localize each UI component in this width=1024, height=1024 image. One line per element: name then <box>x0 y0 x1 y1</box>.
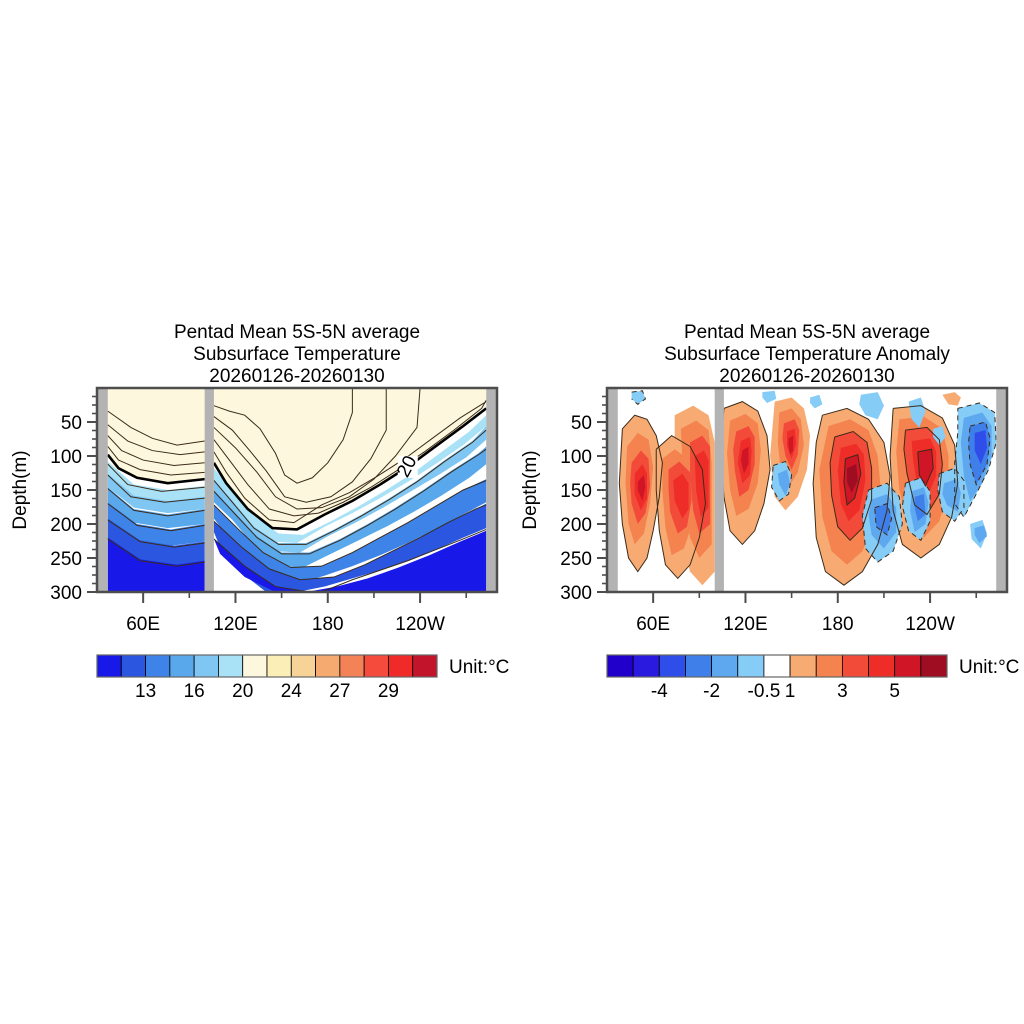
colorbar-tick-label: -2 <box>703 681 720 702</box>
title-line-3: 20260126-20260130 <box>97 366 497 388</box>
colorbar-swatch <box>685 655 711 677</box>
x-tick-label: 60E <box>636 614 670 635</box>
title-line-3: 20260126-20260130 <box>607 366 1007 388</box>
y-tick-label: 150 <box>50 481 82 502</box>
colorbar-unit-label: Unit:°C <box>449 657 509 678</box>
colorbar-swatch <box>291 655 315 677</box>
colorbar-swatch <box>842 655 868 677</box>
y-tick-label: 250 <box>50 549 82 570</box>
colorbar-tick-label: 27 <box>329 681 350 702</box>
colorbar-tick-label: -0.5 <box>748 681 781 702</box>
colorbar-swatch <box>413 655 437 677</box>
y-tick-label: 200 <box>50 515 82 536</box>
y-tick-label: 150 <box>560 481 592 502</box>
land-mask-band <box>486 388 497 592</box>
x-tick-label: 120W <box>905 614 955 635</box>
y-axis-label: Depth(m) <box>520 450 541 529</box>
colorbar-swatch <box>146 655 170 677</box>
colorbar-swatch <box>267 655 291 677</box>
x-tick-label: 180 <box>822 614 854 635</box>
y-tick-label: 200 <box>560 515 592 536</box>
colorbar-swatch <box>218 655 242 677</box>
colorbar-swatch <box>121 655 145 677</box>
x-tick-label: 180 <box>312 614 344 635</box>
x-tick-label: 120W <box>395 614 445 635</box>
colorbar-swatch <box>712 655 738 677</box>
land-mask-band <box>205 388 214 592</box>
colorbar-tick-label: 1 <box>785 681 796 702</box>
panel-title-anomaly: Pentad Mean 5S-5N average Subsurface Tem… <box>607 322 1007 388</box>
land-mask-band <box>996 388 1007 592</box>
colorbar-swatch <box>607 655 633 677</box>
land-mask-band <box>607 388 618 592</box>
x-tick-label: 120E <box>723 614 767 635</box>
x-tick-label: 60E <box>126 614 160 635</box>
colorbar-tick-label: 24 <box>281 681 303 702</box>
colorbar-tick-label: 3 <box>837 681 848 702</box>
y-tick-label: 300 <box>50 583 82 604</box>
title-line-1: Pentad Mean 5S-5N average <box>97 322 497 344</box>
colorbar-tick-label: 16 <box>184 681 205 702</box>
y-tick-label: 50 <box>571 413 592 434</box>
land-mask-band <box>97 388 108 592</box>
colorbar-unit-label: Unit:°C <box>959 657 1019 678</box>
colorbar-tick-label: 20 <box>232 681 253 702</box>
contour-band <box>108 388 205 482</box>
colorbar-swatch <box>340 655 364 677</box>
figure-root: Pentad Mean 5S-5N average Subsurface Tem… <box>0 0 1024 1024</box>
y-tick-label: 300 <box>560 583 592 604</box>
panel-anomaly: Pentad Mean 5S-5N average Subsurface Tem… <box>510 0 1024 720</box>
colorbar-swatch <box>921 655 947 677</box>
colorbar-swatch <box>659 655 685 677</box>
colorbar-swatch <box>816 655 842 677</box>
y-axis-label: Depth(m) <box>10 450 31 529</box>
colorbar: 131620242729Unit:°C <box>97 655 509 702</box>
colorbar-swatch <box>764 655 790 677</box>
colorbar-swatch <box>170 655 194 677</box>
colorbar-swatch <box>633 655 659 677</box>
colorbar-swatch <box>738 655 764 677</box>
title-line-2: Subsurface Temperature <box>97 344 497 366</box>
colorbar-swatch <box>895 655 921 677</box>
colorbar-tick-label: 5 <box>889 681 900 702</box>
panel-temperature: Pentad Mean 5S-5N average Subsurface Tem… <box>0 0 520 720</box>
y-tick-label: 100 <box>50 447 82 468</box>
title-line-2: Subsurface Temperature Anomaly <box>607 344 1007 366</box>
colorbar-swatch <box>97 655 121 677</box>
contour-field: 20 <box>97 388 497 592</box>
colorbar-swatch <box>243 655 267 677</box>
colorbar-swatch <box>194 655 218 677</box>
colorbar-swatch <box>869 655 895 677</box>
colorbar-tick-label: 29 <box>378 681 399 702</box>
colorbar-swatch <box>364 655 388 677</box>
land-mask-band <box>715 388 724 592</box>
y-tick-label: 250 <box>560 549 592 570</box>
colorbar-swatch <box>790 655 816 677</box>
colorbar-tick-label: -4 <box>651 681 668 702</box>
colorbar: -4-2-0.5135Unit:°C <box>607 655 1019 702</box>
y-tick-label: 50 <box>61 413 82 434</box>
colorbar-swatch <box>316 655 340 677</box>
title-line-1: Pentad Mean 5S-5N average <box>607 322 1007 344</box>
colorbar-swatch <box>388 655 412 677</box>
panel-title-temperature: Pentad Mean 5S-5N average Subsurface Tem… <box>97 322 497 388</box>
y-tick-label: 100 <box>560 447 592 468</box>
colorbar-tick-label: 13 <box>135 681 156 702</box>
x-tick-label: 120E <box>213 614 257 635</box>
